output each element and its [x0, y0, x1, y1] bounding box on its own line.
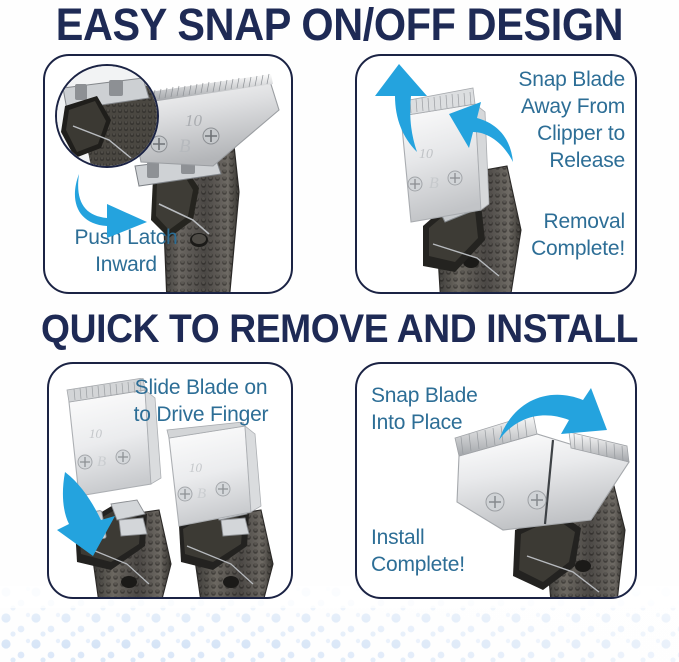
arrow-down-icon: [55, 472, 119, 556]
svg-text:B: B: [197, 486, 206, 502]
panel-slide-blade: 10 B: [47, 362, 293, 599]
caption-install-complete: Install Complete!: [371, 524, 541, 578]
svg-text:B: B: [429, 175, 439, 192]
infographic-page: EASY SNAP ON/OFF DESIGN QUICK TO REMOVE …: [0, 0, 679, 662]
page-title-secondary: QUICK TO REMOVE AND INSTALL: [24, 308, 655, 350]
caption-slide-blade: Slide Blade on to Drive Finger: [117, 374, 285, 428]
arrow-up-icon: [369, 64, 429, 152]
panel-snap-away: 10 B Snap Blade Away From Clipper to Rel…: [355, 54, 637, 294]
clipper-device-illustration-right: 10 B: [161, 422, 293, 599]
blade-marking-logo: B: [179, 136, 191, 157]
curved-arrow-right-down-icon: [73, 168, 151, 238]
panel-snap-into-place: Snap Blade Into Place Install Complete!: [355, 362, 637, 599]
curved-arrow-right-down-icon: [497, 386, 609, 456]
svg-text:B: B: [97, 454, 106, 470]
curved-arrow-up-left-icon: [447, 100, 519, 164]
latch-closeup-illustration: [57, 66, 157, 166]
panel-push-latch: 10 B: [43, 54, 293, 294]
inset-closeup-circle: [55, 64, 159, 168]
svg-text:10: 10: [189, 460, 203, 475]
blade-marking-number: 10: [185, 111, 203, 130]
page-title-primary: EASY SNAP ON/OFF DESIGN: [27, 2, 652, 48]
svg-text:10: 10: [89, 426, 103, 441]
caption-removal-complete: Removal Complete!: [449, 208, 625, 262]
